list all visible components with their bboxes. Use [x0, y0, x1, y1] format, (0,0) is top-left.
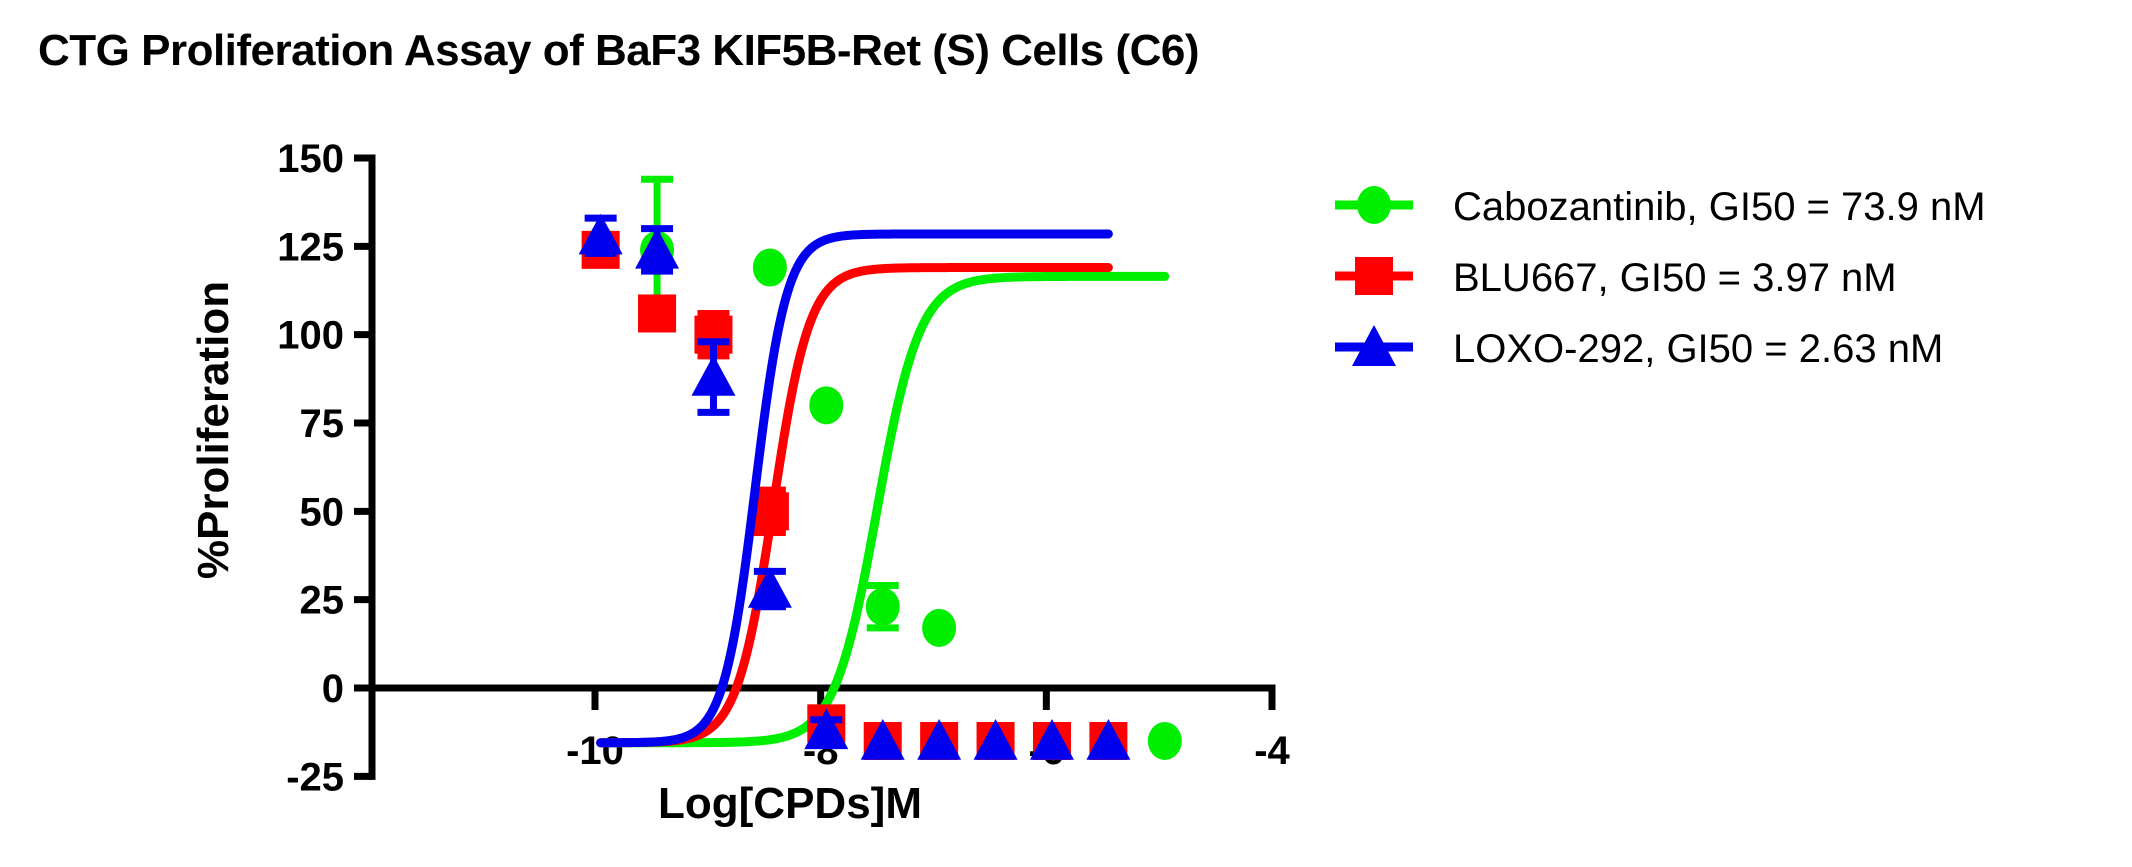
y-tick-label: 75	[300, 402, 345, 446]
data-point-square	[638, 294, 676, 332]
y-tick-label: 150	[277, 137, 344, 181]
series-group	[579, 179, 1182, 760]
data-point-circle	[866, 588, 900, 626]
axes-group: -250255075100125150-10-8-6-4	[277, 137, 1290, 799]
data-point-circle	[922, 609, 956, 647]
legend-group: Cabozantinib, GI50 = 73.9 nMBLU667, GI50…	[1335, 185, 1986, 371]
legend-marker-square	[1355, 257, 1393, 295]
data-point-triangle	[691, 355, 735, 396]
fit-curve	[601, 234, 1109, 743]
legend-item[interactable]: Cabozantinib, GI50 = 73.9 nM	[1335, 185, 1986, 229]
fit-curve	[601, 268, 1109, 743]
legend-item[interactable]: LOXO-292, GI50 = 2.63 nM	[1335, 325, 1943, 371]
y-tick-label: 125	[277, 225, 344, 269]
y-tick-label: -25	[286, 755, 344, 799]
data-point-circle	[753, 249, 787, 287]
chart-figure: CTG Proliferation Assay of BaF3 KIF5B-Re…	[0, 0, 2132, 867]
fit-curve	[601, 276, 1165, 742]
y-tick-label: 100	[277, 314, 344, 358]
legend-label: LOXO-292, GI50 = 2.63 nM	[1453, 327, 1943, 371]
data-point-circle	[1148, 722, 1182, 760]
legend-marker-circle	[1357, 186, 1391, 224]
y-axis-title: %Proliferation	[189, 281, 238, 579]
x-tick-label: -4	[1254, 729, 1290, 773]
legend-item[interactable]: BLU667, GI50 = 3.97 nM	[1335, 256, 1897, 300]
y-tick-label: 50	[300, 490, 345, 534]
plot-area: -250255075100125150-10-8-6-4 Cabozantini…	[0, 0, 2132, 867]
legend-label: Cabozantinib, GI50 = 73.9 nM	[1453, 185, 1986, 229]
x-axis-title: Log[CPDs]M	[658, 779, 922, 828]
series-square	[582, 231, 1128, 760]
y-tick-label: 0	[322, 667, 344, 711]
data-point-circle	[809, 386, 843, 424]
legend-label: BLU667, GI50 = 3.97 nM	[1453, 256, 1897, 300]
x-tick-label: -10	[566, 729, 624, 773]
y-tick-label: 25	[300, 579, 345, 623]
